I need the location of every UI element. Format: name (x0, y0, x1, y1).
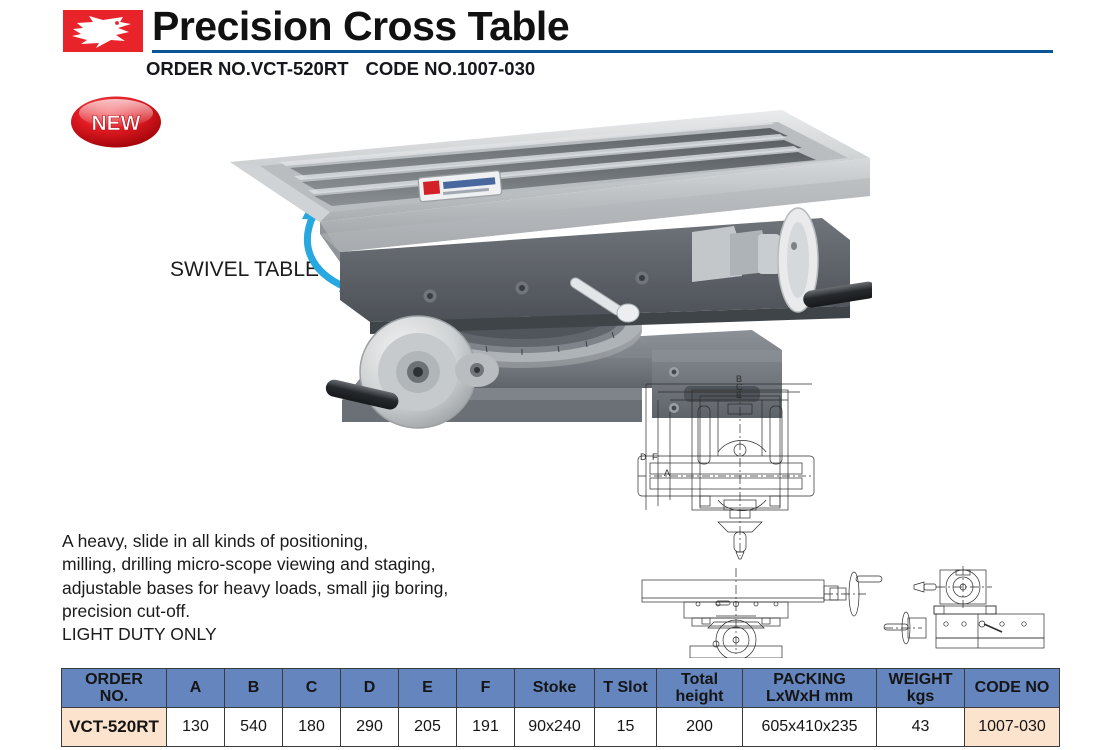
dim-label-F: F (652, 452, 658, 462)
cell-c: 180 (283, 708, 341, 747)
col-total-height: Total height (657, 669, 743, 708)
code-no-text: CODE NO.1007-030 (366, 58, 536, 79)
svg-text:NEW: NEW (92, 112, 141, 135)
cell-a: 130 (167, 708, 225, 747)
col-weight: WEIGHT kgs (877, 669, 965, 708)
title-divider (152, 50, 1053, 53)
drawing-top-view: B C E D F A (600, 360, 830, 560)
col-stoke: Stoke (515, 669, 595, 708)
dim-label-D: D (640, 452, 647, 462)
side-adjust-knob (618, 278, 654, 289)
cell-code-no: 1007-030 (965, 708, 1060, 747)
brand-logo (63, 10, 143, 52)
col-order-no-l2: NO. (62, 688, 166, 705)
col-packing: PACKING LxWxH mm (743, 669, 877, 708)
col-d: D (341, 669, 399, 708)
specification-table: ORDER NO. A B C D E F Stoke T Slot Total… (61, 668, 1060, 747)
cell-stoke: 90x240 (515, 708, 595, 747)
description-line-1: A heavy, slide in all kinds of positioni… (62, 530, 522, 553)
dim-label-E: E (736, 390, 742, 400)
order-no-text: ORDER NO.VCT-520RT (146, 58, 349, 79)
col-packing-l1: PACKING (743, 671, 876, 688)
cell-f: 191 (457, 708, 515, 747)
col-order-no: ORDER NO. (62, 669, 167, 708)
col-b: B (225, 669, 283, 708)
table-header-row: ORDER NO. A B C D E F Stoke T Slot Total… (62, 669, 1060, 708)
description-line-4: precision cut-off. (62, 600, 522, 623)
col-weight-l1: WEIGHT (877, 671, 964, 688)
col-a: A (167, 669, 225, 708)
table-row: VCT-520RT 130 540 180 290 205 191 90x240… (62, 708, 1060, 747)
drawing-front-elevation (628, 558, 888, 658)
drawing-side-elevation (878, 558, 1103, 658)
cell-packing: 605x410x235 (743, 708, 877, 747)
product-description: A heavy, slide in all kinds of positioni… (62, 530, 522, 646)
col-total-height-l2: height (657, 688, 742, 705)
col-f: F (457, 669, 515, 708)
col-t-slot: T Slot (595, 669, 657, 708)
cell-weight: 43 (877, 708, 965, 747)
cell-total-height: 200 (657, 708, 743, 747)
col-e: E (399, 669, 457, 708)
col-weight-l2: kgs (877, 688, 964, 705)
page-title: Precision Cross Table (152, 6, 569, 47)
cell-t-slot: 15 (595, 708, 657, 747)
description-line-5: LIGHT DUTY ONLY (62, 623, 522, 646)
cell-b: 540 (225, 708, 283, 747)
col-total-height-l1: Total (657, 671, 742, 688)
cell-d: 290 (341, 708, 399, 747)
col-order-no-l1: ORDER (62, 671, 166, 688)
col-packing-l2: LxWxH mm (743, 688, 876, 705)
order-code-subtitle: ORDER NO.VCT-520RTCODE NO.1007-030 (146, 58, 535, 80)
cell-e: 205 (399, 708, 457, 747)
col-code-no: CODE NO (965, 669, 1060, 708)
cell-order-no: VCT-520RT (62, 708, 167, 747)
dim-label-A: A (664, 468, 670, 478)
new-badge: NEW (70, 95, 162, 148)
description-line-2: milling, drilling micro-scope viewing an… (62, 553, 522, 576)
col-c: C (283, 669, 341, 708)
description-line-3: adjustable bases for heavy loads, small … (62, 577, 522, 600)
